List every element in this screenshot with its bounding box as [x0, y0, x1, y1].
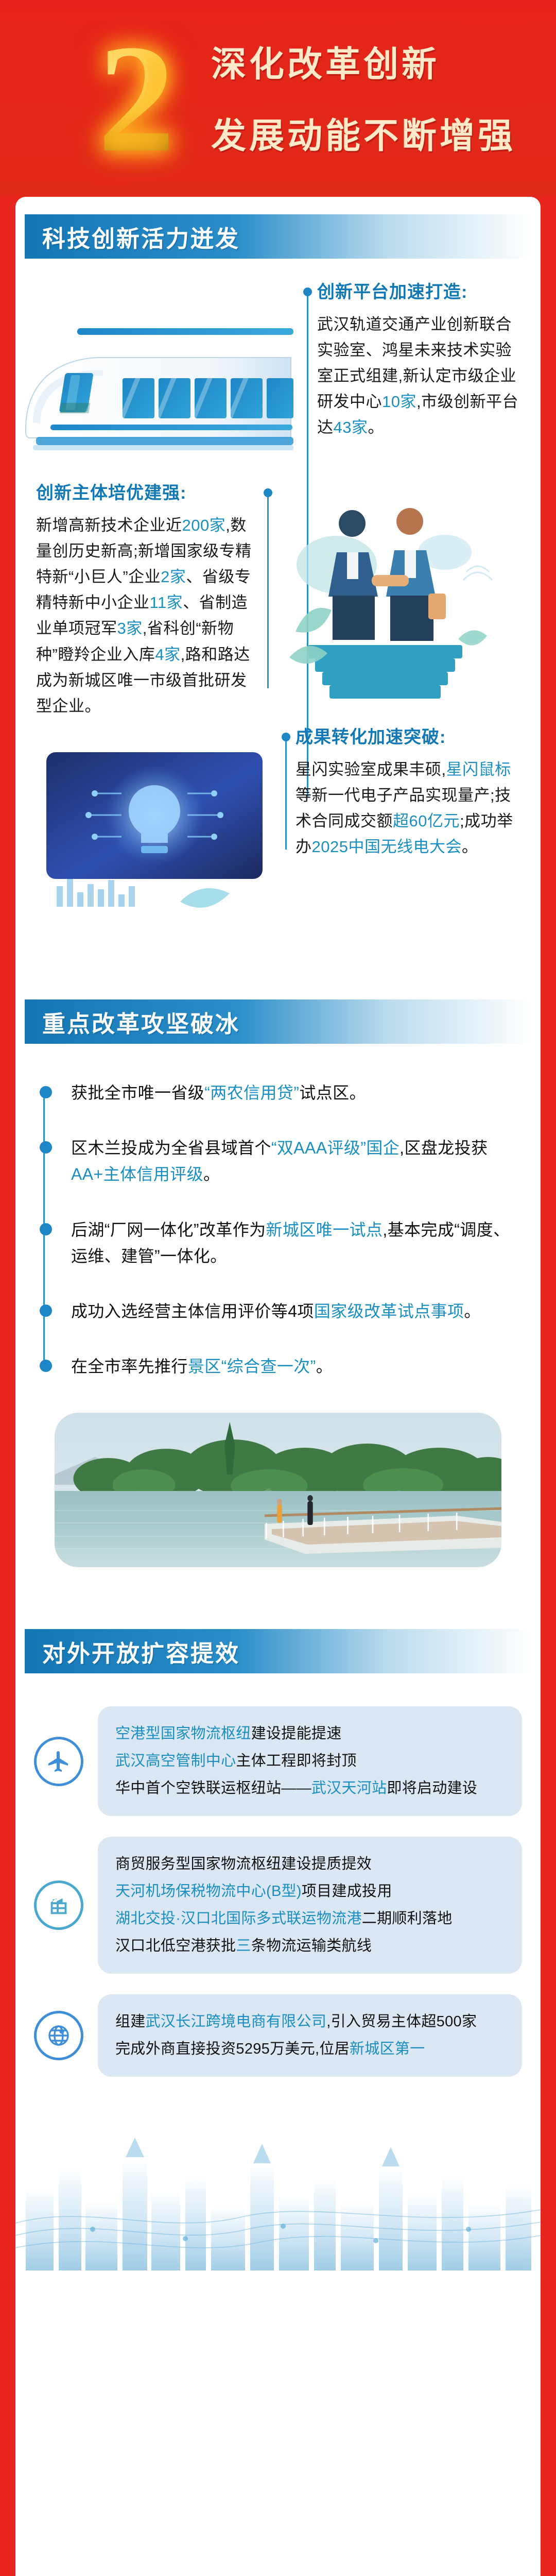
lake-photo: [55, 1413, 501, 1567]
list-item: 获批全市唯一省级“两农信用贷”试点区。: [71, 1080, 520, 1106]
opening-card-row: 组建武汉长江跨境电商有限公司,引入贸易主体超500家 完成外商直接投资5295万…: [34, 1994, 522, 2077]
highlighted-text: 3家: [117, 619, 143, 637]
section-bar-reform: 重点改革攻坚破冰: [25, 999, 531, 1044]
bullet-dot-icon: [40, 1360, 52, 1372]
list-item: 在全市率先推行景区“综合查一次”。: [71, 1353, 520, 1380]
reform-item-text: 在全市率先推行景区“综合查一次”。: [71, 1353, 520, 1380]
highlighted-text: 新城区唯一试点: [266, 1221, 383, 1239]
body-text: 华中首个空铁联运枢纽站——: [115, 1780, 311, 1797]
section-number-glyph: 2: [98, 29, 175, 168]
tech-subject-body: 新增高新技术企业近200家,数量创历史新高;新增国家级专精特新“小巨人”企业2家…: [36, 513, 252, 720]
highlighted-text: 景区“综合查一次”: [188, 1357, 316, 1376]
connector-rail-transform: [285, 736, 287, 850]
body-text: 在全市率先推行: [71, 1357, 188, 1376]
building-icon: [34, 1880, 83, 1930]
bullet-dot-icon: [40, 1304, 52, 1317]
section-tech-body: 创新平台加速打造: 武汉轨道交通产业创新联合实验室、鸿星未来技术实验室正式组建,…: [15, 281, 541, 938]
opening-card-air: 空港型国家物流枢纽建设提能提速 武汉高空管制中心主体工程即将封顶 华中首个空铁联…: [98, 1706, 522, 1816]
body-text: ,区盘龙投获: [399, 1139, 488, 1157]
opening-card-trade: 商贸服务型国家物流枢纽建设提质提效 天河机场保税物流中心(B型)项目建成投用 湖…: [98, 1837, 522, 1974]
tech-transform-body: 星闪实验室成果丰硕,星闪鼠标等新一代电子产品实现量产;技术合同成交额超60亿元;…: [296, 757, 523, 860]
body-text: 即将启动建设: [387, 1780, 477, 1797]
body-text: 主体工程即将封顶: [236, 1753, 356, 1769]
card-line: 天河机场保税物流中心(B型)项目建成投用: [115, 1879, 505, 1904]
card-line: 武汉高空管制中心主体工程即将封顶: [115, 1749, 505, 1773]
reform-item-text: 获批全市唯一省级“两农信用贷”试点区。: [71, 1080, 520, 1106]
bullet-dot-icon: [40, 1223, 52, 1235]
content-sheet: 科技创新活力迸发: [15, 197, 541, 2576]
body-text: 新增高新技术企业近: [36, 516, 182, 534]
card-line: 商贸服务型国家物流枢纽建设提质提效: [115, 1852, 505, 1876]
tech-block-platform: 创新平台加速打造: 武汉轨道交通产业创新联合实验室、鸿星未来技术实验室正式组建,…: [304, 281, 541, 441]
highlighted-text: 11家: [150, 594, 183, 612]
card-line: 空港型国家物流枢纽建设提能提速: [115, 1722, 505, 1746]
card-line: 组建武汉长江跨境电商有限公司,引入贸易主体超500家: [115, 2010, 505, 2034]
card-line: 湖北交投·汉口北国际多式联运物流港二期顺利落地: [115, 1907, 505, 1931]
highlighted-text: 2家: [161, 568, 186, 586]
section-bar-label: 科技创新活力迸发: [42, 220, 240, 253]
body-text: 。: [462, 838, 478, 856]
highlighted-text: 武汉天河站: [311, 1780, 387, 1797]
section-opening-body: 空港型国家物流枢纽建设提能提速 武汉高空管制中心主体工程即将封顶 华中首个空铁联…: [15, 1673, 541, 2077]
reform-item-text: 成功入选经营主体信用评价等4项国家级改革试点事项。: [71, 1298, 520, 1325]
card-line: 完成外商直接投资5295万美元,位居新城区第一: [115, 2037, 505, 2061]
highlighted-text: 2025中国无线电大会: [312, 838, 462, 856]
body-text: 完成外商直接投资5295万美元,位居: [115, 2041, 350, 2057]
card-line: 华中首个空铁联运枢纽站——武汉天河站即将启动建设: [115, 1776, 505, 1801]
body-text: 后湖“厂网一体化”改革作为: [71, 1221, 266, 1239]
reform-bullet-list: 获批全市唯一省级“两农信用贷”试点区。 区木兰投成为全省县域首个“双AAA评级”…: [36, 1080, 520, 1380]
highlighted-text: 4家: [155, 646, 180, 664]
opening-card-ecommerce: 组建武汉长江跨境电商有限公司,引入贸易主体超500家 完成外商直接投资5295万…: [98, 1994, 522, 2077]
highlighted-text: 天河机场保税物流中心(B型): [115, 1883, 302, 1900]
highlighted-text: 超60亿元: [393, 812, 460, 830]
tech-transform-title: 成果转化加速突破:: [296, 726, 523, 749]
body-text: 区木兰投成为全省县域首个: [71, 1139, 271, 1157]
highlighted-text: 10家: [382, 393, 416, 411]
body-text: 组建: [115, 2013, 146, 2030]
list-item: 后湖“厂网一体化”改革作为新城区唯一试点,基本完成“调度、运维、建管”一体化。: [71, 1217, 520, 1269]
body-text: 星闪实验室成果丰硕,: [296, 760, 446, 778]
body-text: 条物流运输类航线: [251, 1938, 372, 1954]
tech-subject-title: 创新主体培优建强:: [36, 482, 252, 504]
train-illustration: [15, 281, 304, 465]
body-text: 。: [316, 1357, 333, 1376]
airplane-icon: [34, 1737, 83, 1786]
highlighted-text: 国家级改革试点事项: [314, 1302, 464, 1320]
section-number-badge: 2: [82, 34, 190, 163]
body-text: 二期顺利落地: [362, 1910, 453, 1927]
highlighted-text: 43家: [334, 418, 368, 436]
globe-icon: [34, 2011, 83, 2060]
highlighted-text: 武汉长江跨境电商有限公司: [146, 2013, 327, 2030]
connector-dot-platform: [303, 287, 312, 296]
body-text: 汉口北低空港获批: [115, 1938, 236, 1954]
tech-row-transform: 成果转化加速突破: 星闪实验室成果丰硕,星闪鼠标等新一代电子产品实现量产;技术合…: [15, 726, 541, 917]
bullet-dot-icon: [40, 1086, 52, 1098]
reform-item-text: 区木兰投成为全省县域首个“双AAA评级”国企,区盘龙投获AA+主体信用评级。: [71, 1135, 520, 1188]
ai-chip-illustration: [15, 726, 283, 917]
highlighted-text: 星闪鼠标: [446, 760, 511, 778]
body-text: 成功入选经营主体信用评价等4项: [71, 1302, 314, 1320]
section-reform-body: 获批全市唯一省级“两农信用贷”试点区。 区木兰投成为全省县域首个“双AAA评级”…: [15, 1044, 541, 1567]
highlighted-text: 武汉高空管制中心: [115, 1753, 236, 1769]
section-bar-opening: 对外开放扩容提效: [25, 1629, 531, 1673]
tech-row-subject: 创新主体培优建强: 新增高新技术企业近200家,数量创历史新高;新增国家级专精特…: [15, 482, 541, 724]
tech-platform-body: 武汉轨道交通产业创新联合实验室、鸿星未来技术实验室正式组建,新认定市级企业研发中…: [317, 312, 523, 441]
tech-row-platform: 创新平台加速打造: 武汉轨道交通产业创新联合实验室、鸿星未来技术实验室正式组建,…: [15, 281, 541, 465]
highlighted-text: 湖北交投·汉口北国际多式联运物流港: [115, 1910, 362, 1927]
list-item: 成功入选经营主体信用评价等4项国家级改革试点事项。: [71, 1298, 520, 1325]
bullet-dot-icon: [40, 1141, 52, 1154]
card-line: 汉口北低空港获批三条物流运输类航线: [115, 1934, 505, 1958]
body-text: 商贸服务型国家物流枢纽建设提质提效: [115, 1856, 372, 1872]
highlighted-text: 新城区第一: [350, 2041, 425, 2057]
tech-block-subject: 创新主体培优建强: 新增高新技术企业近200家,数量创历史新高;新增国家级专精特…: [15, 482, 257, 719]
highlighted-text: 200家: [182, 516, 226, 534]
header-title-group: 深化改革创新 发展动能不断增强: [211, 36, 516, 161]
tech-block-transform: 成果转化加速突破: 星闪实验室成果丰硕,星闪鼠标等新一代电子产品实现量产;技术合…: [283, 726, 541, 860]
body-text: 建设提能提速: [251, 1725, 342, 1742]
body-text: 试点区。: [299, 1083, 366, 1102]
handshake-illustration: [257, 482, 541, 724]
connector-dot-transform: [282, 733, 290, 741]
body-text: 。: [368, 418, 384, 436]
section-bar-label: 对外开放扩容提效: [42, 1635, 240, 1668]
highlighted-text: “两农信用贷”: [204, 1083, 299, 1102]
highlighted-text: 三: [236, 1938, 251, 1954]
opening-card-row: 商贸服务型国家物流枢纽建设提质提效 天河机场保税物流中心(B型)项目建成投用 湖…: [34, 1837, 522, 1974]
highlighted-text: “双AAA评级”国企: [271, 1139, 399, 1157]
lake-photo-container: [55, 1413, 501, 1567]
body-text: 。: [203, 1165, 220, 1183]
body-text: 。: [464, 1302, 480, 1320]
body-text: 获批全市唯一省级: [71, 1083, 204, 1102]
opening-card-row: 空港型国家物流枢纽建设提能提速 武汉高空管制中心主体工程即将封顶 华中首个空铁联…: [34, 1706, 522, 1816]
header-title-line-1: 深化改革创新: [211, 36, 516, 87]
infographic-poster: 2 深化改革创新 发展动能不断增强 科技创新活力迸发: [0, 0, 556, 2576]
highlighted-text: 空港型国家物流枢纽: [115, 1725, 251, 1742]
city-skyline-footer: [15, 2100, 541, 2270]
body-text: 项目建成投用: [302, 1883, 392, 1900]
highlighted-text: AA+主体信用评级: [71, 1165, 203, 1183]
section-bar-label: 重点改革攻坚破冰: [42, 1005, 240, 1039]
list-item: 区木兰投成为全省县域首个“双AAA评级”国企,区盘龙投获AA+主体信用评级。: [71, 1135, 520, 1188]
header-title-line-2: 发展动能不断增强: [211, 107, 516, 158]
poster-header: 2 深化改革创新 发展动能不断增强: [0, 0, 556, 197]
body-text: ,引入贸易主体超500家: [326, 2013, 477, 2030]
content-sheet-stack: 科技创新活力迸发: [0, 197, 556, 2576]
tech-platform-title: 创新平台加速打造:: [317, 281, 523, 303]
section-bar-tech: 科技创新活力迸发: [25, 214, 531, 259]
reform-item-text: 后湖“厂网一体化”改革作为新城区唯一试点,基本完成“调度、运维、建管”一体化。: [71, 1217, 520, 1269]
